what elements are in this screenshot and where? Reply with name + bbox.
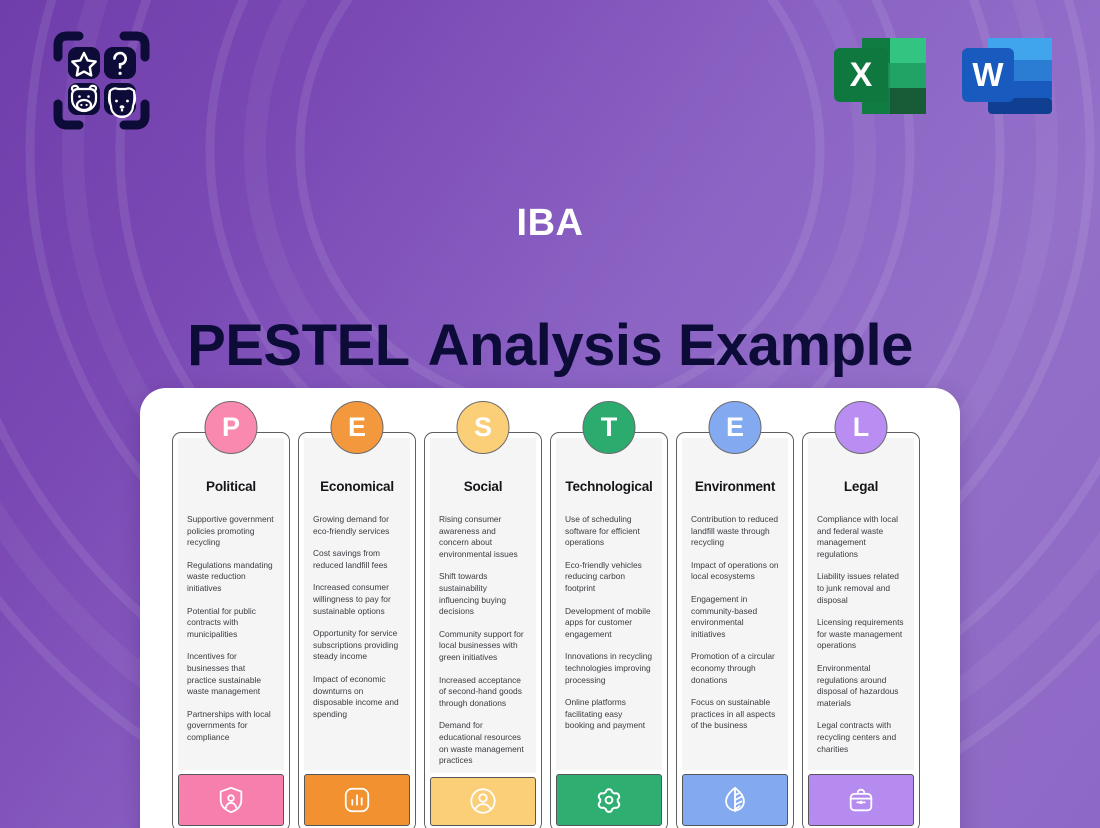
column-letter-badge: T (583, 401, 636, 454)
pestel-column-technological: TTechnologicalUse of scheduling software… (550, 432, 668, 828)
column-body: LegalCompliance with local and federal w… (808, 438, 914, 770)
column-bullet-list: Growing demand for eco-friendly services… (313, 514, 401, 720)
column-title: Social (439, 479, 527, 494)
bullet-item: Impact of economic downturns on disposab… (313, 674, 401, 720)
column-body: PoliticalSupportive government policies … (178, 438, 284, 770)
column-title: Environment (691, 479, 779, 494)
column-letter-badge: L (835, 401, 888, 454)
bullet-item: Regulations mandating waste reduction in… (187, 560, 275, 595)
bar-chart-icon (304, 774, 410, 826)
column-body: TechnologicalUse of scheduling software … (556, 438, 662, 770)
shield-person-icon (178, 774, 284, 826)
bullet-item: Compliance with local and federal waste … (817, 514, 905, 560)
bullet-item: Focus on sustainable practices in all as… (691, 697, 779, 732)
bullet-item: Growing demand for eco-friendly services (313, 514, 401, 537)
column-letter-badge: E (709, 401, 762, 454)
briefcase-icon (808, 774, 914, 826)
page-title: PESTELAnalysis Example (0, 312, 1100, 379)
bullet-item: Promotion of a circular economy through … (691, 651, 779, 686)
bullet-item: Incentives for businesses that practice … (187, 651, 275, 697)
gear-icon (556, 774, 662, 826)
page-title-rest: Analysis Example (428, 313, 913, 378)
bullet-item: Innovations in recycling technologies im… (565, 651, 653, 686)
bullet-item: Demand for educational resources on wast… (439, 720, 527, 766)
column-body: EnvironmentContribution to reduced landf… (682, 438, 788, 770)
animal-scan-logo (48, 27, 155, 134)
bullet-item: Impact of operations on local ecosystems (691, 560, 779, 583)
bullet-item: Cost savings from reduced landfill fees (313, 548, 401, 571)
bullet-item: Supportive government policies promoting… (187, 514, 275, 549)
leaf-icon (682, 774, 788, 826)
column-bullet-list: Compliance with local and federal waste … (817, 514, 905, 755)
pestel-column-social: SSocialRising consumer awareness and con… (424, 432, 542, 828)
bullet-item: Legal contracts with recycling centers a… (817, 720, 905, 755)
office-icons-group: X W (830, 30, 1056, 122)
word-icon: W (956, 30, 1056, 122)
column-body: EconomicalGrowing demand for eco-friendl… (304, 438, 410, 770)
bullet-item: Increased consumer willingness to pay fo… (313, 582, 401, 617)
poster-canvas: X W IBA PESTELAnalysis Example PPolitica… (0, 0, 1100, 828)
bullet-item: Engagement in community-based environmen… (691, 594, 779, 640)
svg-text:X: X (850, 56, 873, 94)
column-title: Economical (313, 479, 401, 494)
page-title-bold: PESTEL (187, 313, 410, 378)
column-body: SocialRising consumer awareness and conc… (430, 438, 536, 773)
column-bullet-list: Rising consumer awareness and concern ab… (439, 514, 527, 767)
subtitle-iba: IBA (0, 202, 1100, 245)
bullet-item: Contribution to reduced landfill waste t… (691, 514, 779, 549)
column-title: Legal (817, 479, 905, 494)
bullet-item: Shift towards sustainability influencing… (439, 571, 527, 617)
pestel-column-legal: LLegalCompliance with local and federal … (802, 432, 920, 828)
column-bullet-list: Use of scheduling software for efficient… (565, 514, 653, 732)
bullet-item: Development of mobile apps for customer … (565, 606, 653, 641)
svg-text:W: W (972, 56, 1004, 93)
bullet-item: Partnerships with local governments for … (187, 709, 275, 744)
pestel-column-economical: EEconomicalGrowing demand for eco-friend… (298, 432, 416, 828)
bullet-item: Eco-friendly vehicles reducing carbon fo… (565, 560, 653, 595)
column-title: Technological (565, 479, 653, 494)
column-title: Political (187, 479, 275, 494)
bullet-item: Increased acceptance of second-hand good… (439, 675, 527, 710)
pestel-card: PPoliticalSupportive government policies… (140, 388, 960, 828)
bullet-item: Liability issues related to junk removal… (817, 571, 905, 606)
pestel-column-political: PPoliticalSupportive government policies… (172, 432, 290, 828)
bullet-item: Licensing requirements for waste managem… (817, 617, 905, 652)
column-letter-badge: E (331, 401, 384, 454)
bullet-item: Environmental regulations around disposa… (817, 663, 905, 709)
user-circle-icon (430, 777, 536, 826)
bullet-item: Online platforms facilitating easy booki… (565, 697, 653, 732)
bullet-item: Potential for public contracts with muni… (187, 606, 275, 641)
pestel-column-environment: EEnvironmentContribution to reduced land… (676, 432, 794, 828)
bullet-item: Community support for local businesses w… (439, 629, 527, 664)
column-bullet-list: Contribution to reduced landfill waste t… (691, 514, 779, 732)
column-bullet-list: Supportive government policies promoting… (187, 514, 275, 744)
excel-icon: X (830, 30, 930, 122)
bullet-item: Use of scheduling software for efficient… (565, 514, 653, 549)
column-letter-badge: P (205, 401, 258, 454)
bullet-item: Opportunity for service subscriptions pr… (313, 628, 401, 663)
bullet-item: Rising consumer awareness and concern ab… (439, 514, 527, 560)
pestel-columns: PPoliticalSupportive government policies… (172, 432, 928, 828)
column-letter-badge: S (457, 401, 510, 454)
